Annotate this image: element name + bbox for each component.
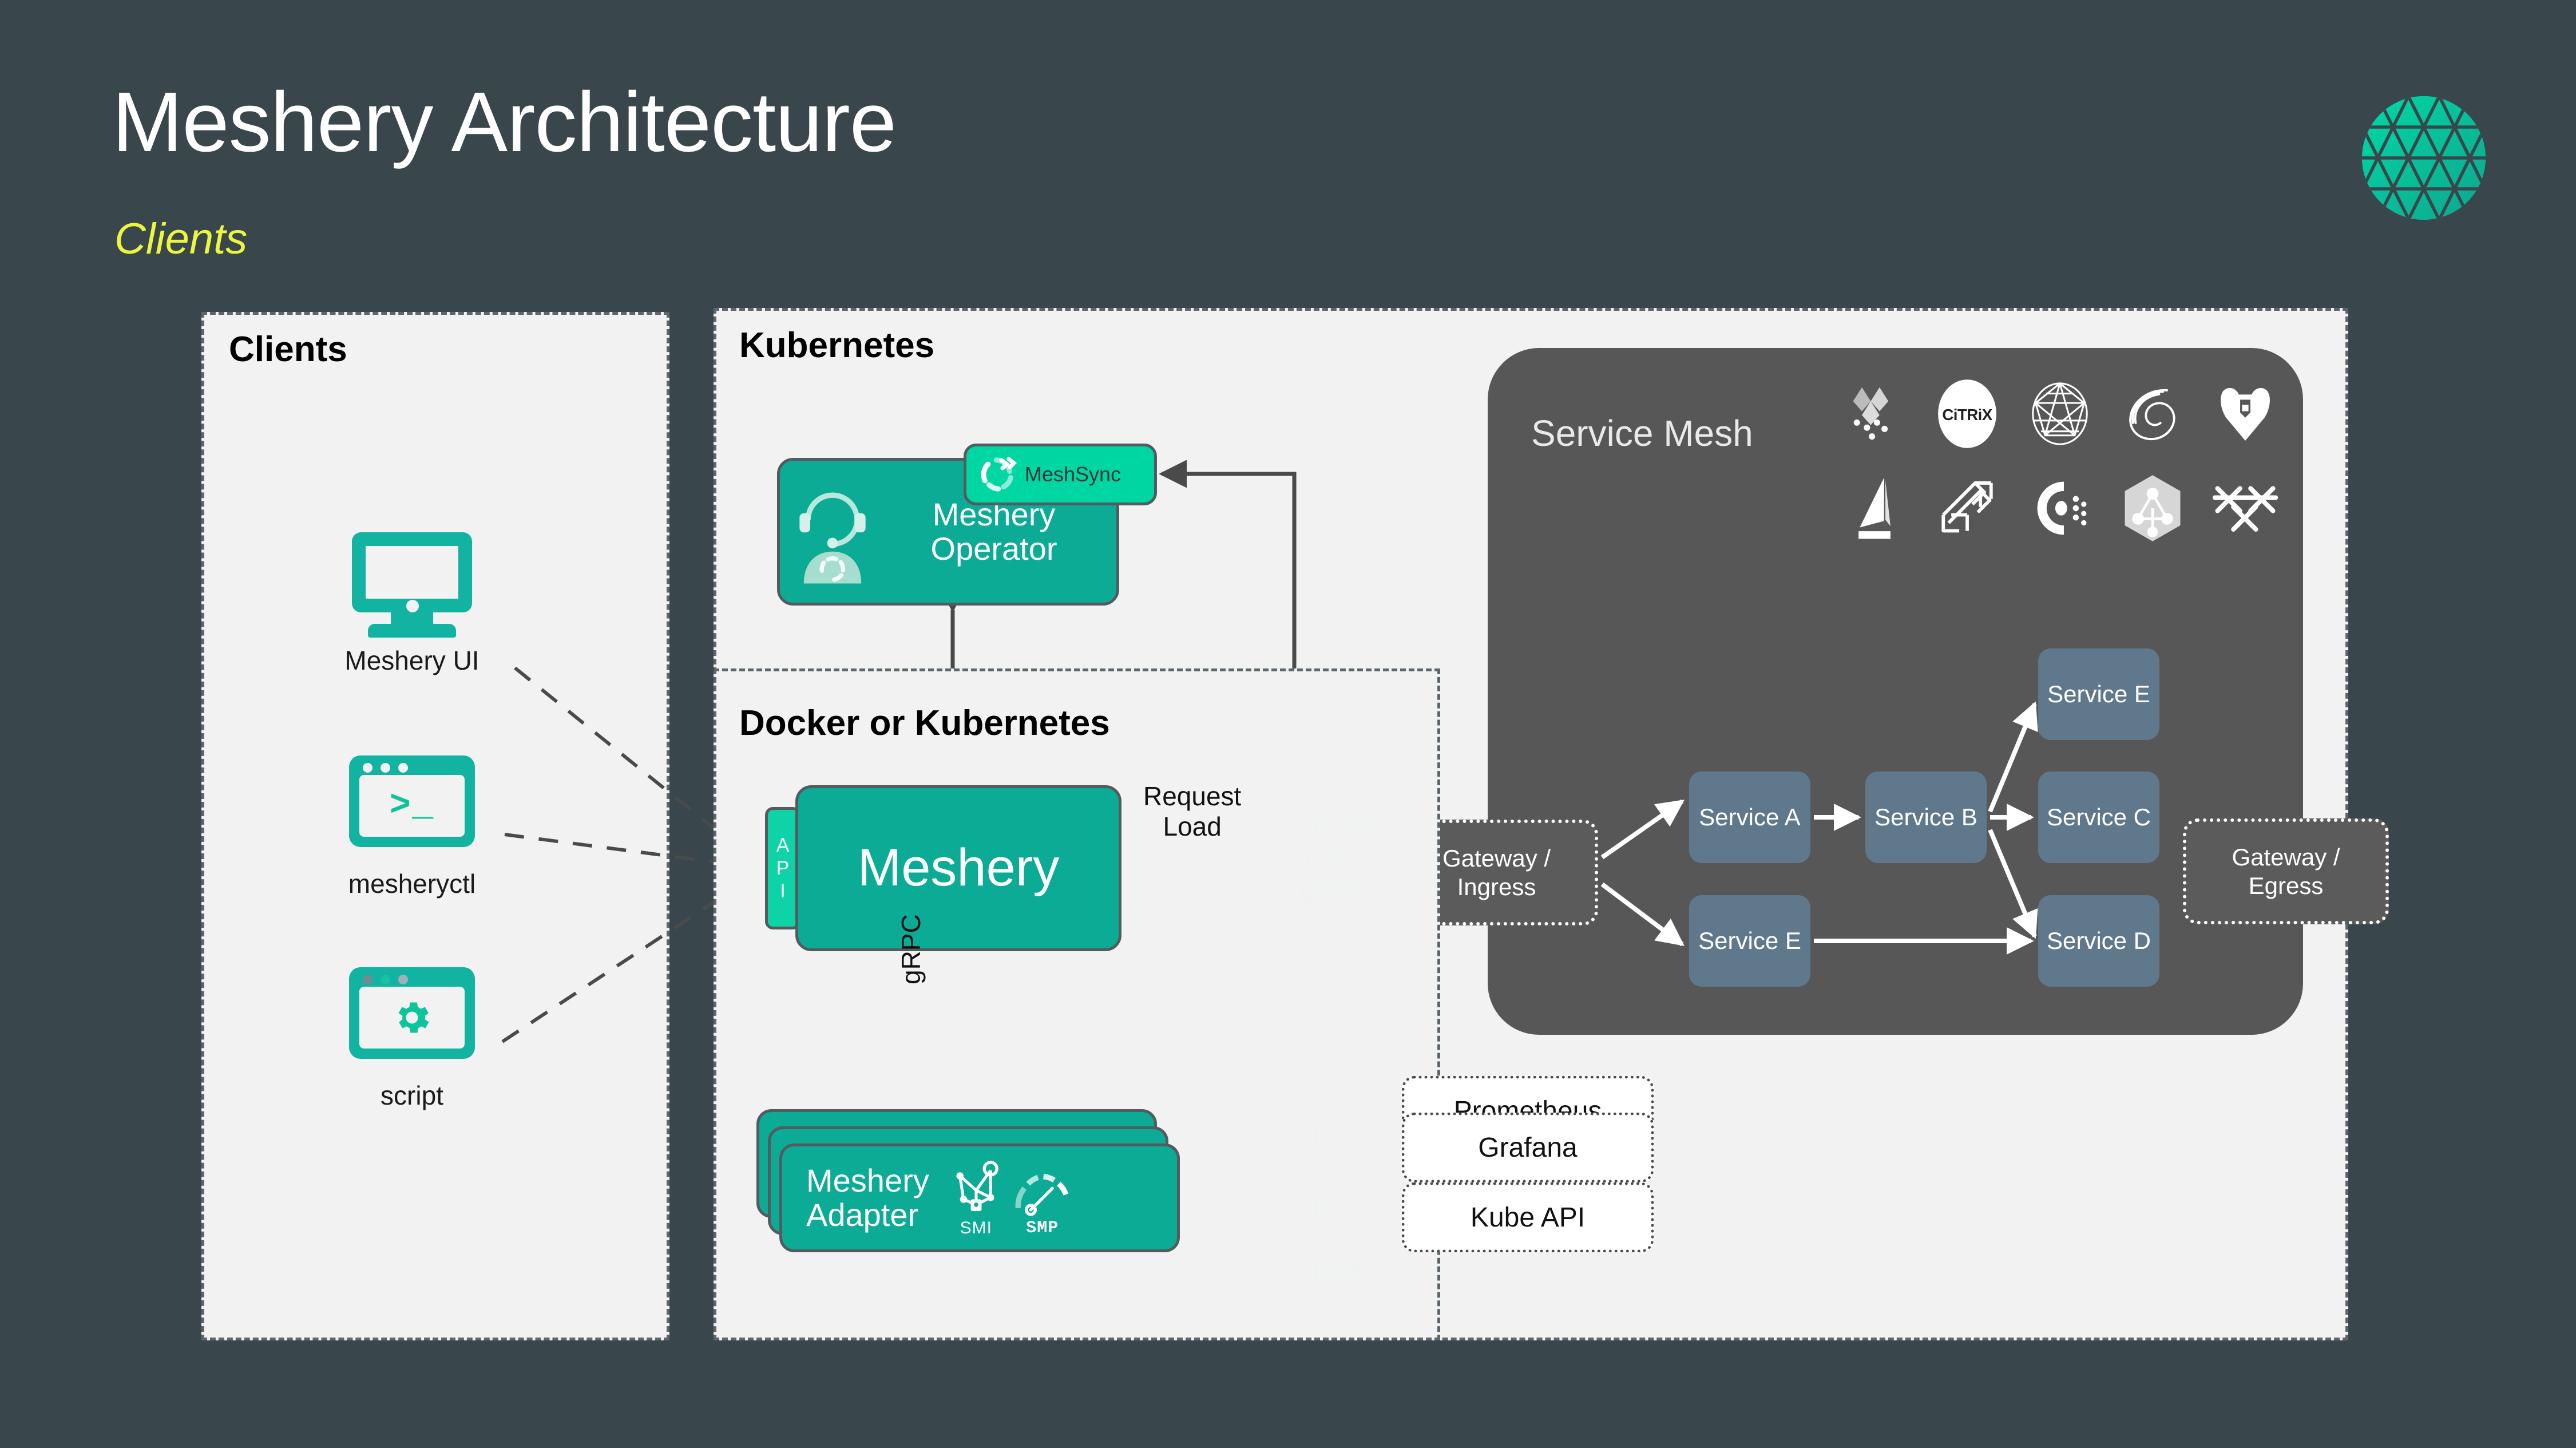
kuma-icon (2211, 379, 2280, 448)
edge-label-grpc: gRPC (896, 914, 926, 984)
network-service-mesh-icon (2118, 474, 2187, 543)
smp-badge: SMP (1013, 1168, 1072, 1238)
adapter-badges: SMI SMP (949, 1158, 1072, 1238)
service-label: Service E (2047, 681, 2150, 708)
meshsync-label: MeshSync (1025, 462, 1121, 486)
kube-api-label: Kube API (1471, 1202, 1585, 1233)
client-label: Meshery UI (318, 647, 506, 674)
sync-circle-icon (977, 454, 1018, 495)
edge-label-request-load: Request Load (1143, 781, 1241, 842)
client-meshery-ui[interactable]: Meshery UI (318, 532, 506, 674)
smi-network-icon (949, 1158, 1004, 1217)
service-node-e-upper[interactable]: Service E (2038, 648, 2159, 740)
service-mesh-title: Service Mesh (1531, 412, 1753, 454)
service-label: Service A (1699, 804, 1800, 831)
smp-gauge-icon (1013, 1168, 1072, 1217)
kubernetes-panel-title: Kubernetes (739, 325, 934, 366)
docker-panel-title: Docker or Kubernetes (739, 703, 1110, 743)
headset-operator-icon (795, 481, 870, 588)
service-label: Service B (1874, 804, 1977, 831)
meshery-adapter-label: Meshery Adapter (806, 1164, 929, 1233)
open-service-mesh-icon (2211, 474, 2280, 543)
gateway-ingress-label: Gateway / Ingress (1442, 844, 1551, 901)
terminal-prompt-glyph: >_ (390, 788, 434, 824)
citrix-icon: CiTRiX (1933, 379, 2002, 448)
edge-label-protocols: HTTP/ TCP gRPC (1300, 813, 1376, 904)
client-label: script (318, 1082, 506, 1109)
service-node-b[interactable]: Service B (1865, 772, 1987, 863)
aws-app-mesh-icon (1840, 379, 1909, 448)
edge-label-http-prometheus: HTTP (1300, 1122, 1369, 1152)
nginx-icon (2118, 379, 2187, 448)
smp-label: SMP (1026, 1218, 1059, 1238)
meshery-node[interactable]: Meshery (795, 785, 1121, 951)
service-mesh-logo-grid: CiTRiX (1828, 366, 2292, 555)
monitor-icon (318, 532, 506, 638)
page-title: Meshery Architecture (112, 80, 896, 165)
meshery-label: Meshery (858, 840, 1060, 896)
terminal-icon: >_ (318, 755, 506, 861)
grafana-node[interactable]: Grafana (1402, 1113, 1654, 1182)
service-node-c[interactable]: Service C (2038, 772, 2159, 863)
meshery-logo-icon (2362, 96, 2486, 220)
service-node-d[interactable]: Service D (2038, 895, 2159, 987)
meshsync-badge[interactable]: MeshSync (964, 444, 1157, 505)
istio-icon (1840, 474, 1909, 543)
architecture-diagram: Meshery Architecture Clients Clients Kub… (0, 0, 2576, 1448)
clients-panel-title: Clients (229, 329, 347, 370)
client-script[interactable]: script (318, 967, 506, 1109)
grafana-label: Grafana (1478, 1132, 1577, 1164)
service-label: Service E (1698, 927, 1801, 955)
meshery-operator-label: Meshery Operator (931, 497, 1057, 567)
edge-label-http-kube: HTTP (1300, 1260, 1369, 1290)
page-subtitle: Clients (114, 217, 247, 261)
client-label: mesheryctl (318, 871, 506, 897)
gear-window-icon (318, 967, 506, 1073)
service-label: Service C (2047, 804, 2151, 831)
service-node-a[interactable]: Service A (1689, 772, 1810, 863)
smi-badge: SMI (949, 1158, 1004, 1238)
edge-label-http-grafana: HTTP (1300, 1191, 1369, 1221)
linkerd-icon (1933, 474, 2002, 543)
meshery-adapter-node[interactable]: Meshery Adapter SMI (779, 1144, 1180, 1252)
consul-icon (2026, 379, 2094, 448)
kube-api-node[interactable]: Kube API (1402, 1182, 1654, 1252)
svg-text:CiTRiX: CiTRiX (1942, 406, 1992, 424)
cilium-icon (2026, 474, 2094, 543)
service-node-e-lower[interactable]: Service E (1689, 895, 1810, 987)
gateway-egress-label: Gateway / Egress (2232, 843, 2340, 900)
service-label: Service D (2047, 927, 2151, 955)
gateway-egress-node[interactable]: Gateway / Egress (2183, 818, 2389, 924)
smi-label: SMI (960, 1218, 992, 1238)
client-mesheryctl[interactable]: >_ mesheryctl (318, 755, 506, 897)
